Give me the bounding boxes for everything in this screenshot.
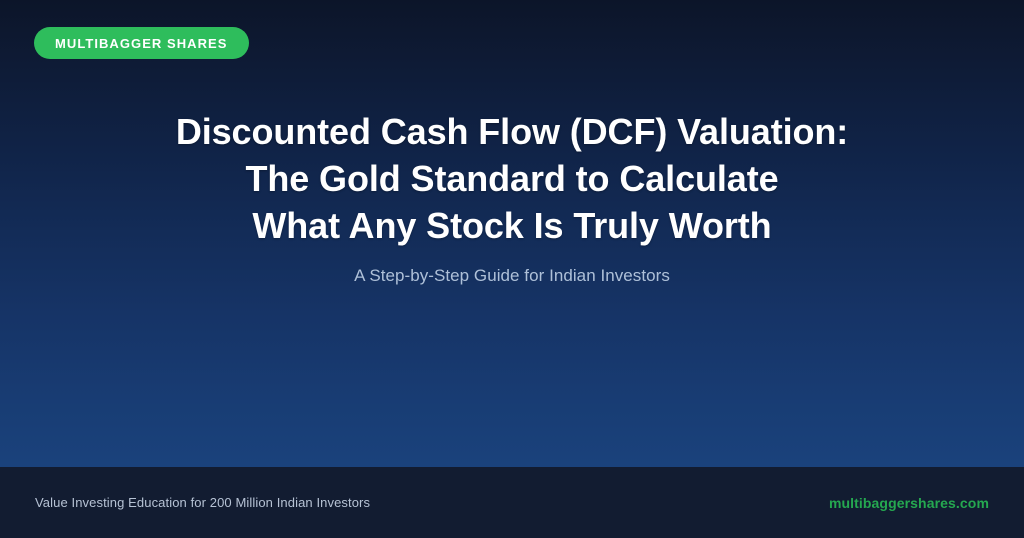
- title-card: MULTIBAGGER SHARES Discounted Cash Flow …: [0, 0, 1024, 538]
- page-title: Discounted Cash Flow (DCF) Valuation: Th…: [176, 108, 848, 249]
- title-line-2: The Gold Standard to Calculate: [176, 155, 848, 202]
- footer-bar: Value Investing Education for 200 Millio…: [0, 467, 1024, 538]
- hero-content: Discounted Cash Flow (DCF) Valuation: Th…: [0, 0, 1024, 467]
- footer-website[interactable]: multibaggershares.com: [829, 495, 989, 511]
- page-subtitle: A Step-by-Step Guide for Indian Investor…: [354, 249, 670, 288]
- title-line-3: What Any Stock Is Truly Worth: [176, 202, 848, 249]
- footer-tagline: Value Investing Education for 200 Millio…: [35, 495, 370, 510]
- title-line-1: Discounted Cash Flow (DCF) Valuation:: [176, 108, 848, 155]
